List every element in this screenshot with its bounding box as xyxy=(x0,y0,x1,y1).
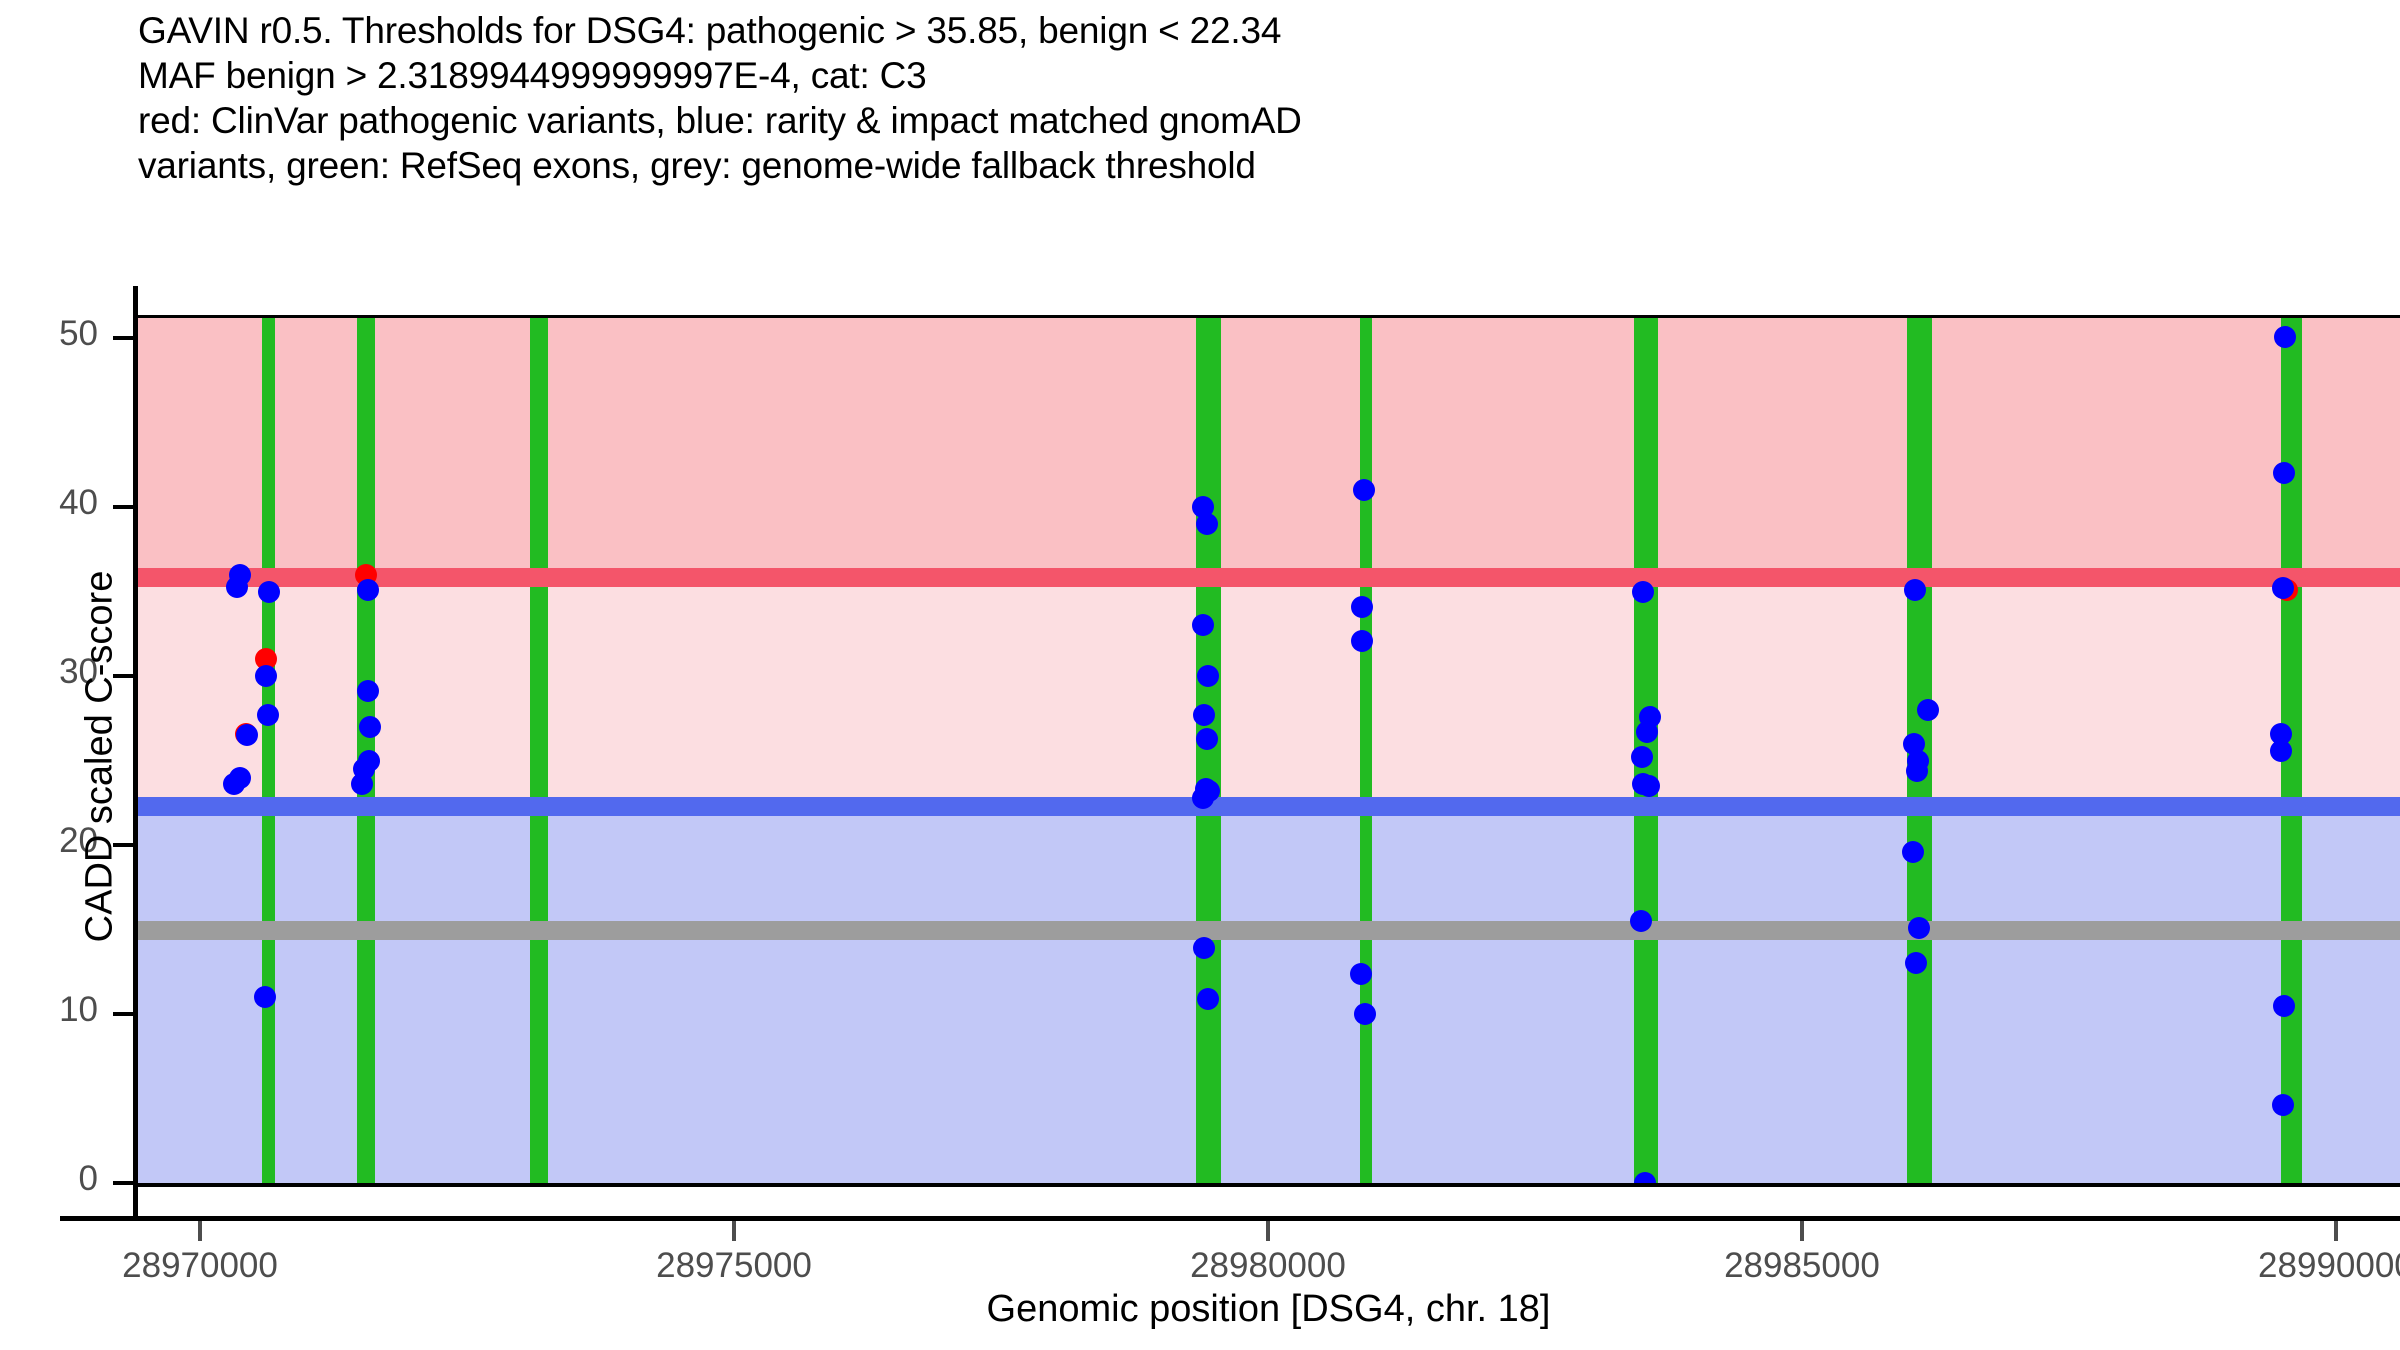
x-tick-mark xyxy=(1266,1221,1270,1241)
refseq-exon-bar xyxy=(1360,318,1372,1183)
gnomad-variant-point xyxy=(1197,988,1219,1010)
refseq-exon-bar xyxy=(1196,318,1221,1183)
gnomad-variant-point xyxy=(1632,581,1654,603)
gnomad-variant-point xyxy=(1351,630,1373,652)
refseq-exon-bar xyxy=(530,318,548,1183)
gnomad-variant-point xyxy=(359,716,381,738)
gnomad-variant-point xyxy=(1351,596,1373,618)
x-tick-label: 28975000 xyxy=(656,1246,812,1286)
gnomad-variant-point xyxy=(1917,699,1939,721)
gnomad-variant-point xyxy=(229,564,251,586)
y-tick-label: 50 xyxy=(59,314,98,354)
gnomad-variant-point xyxy=(1193,704,1215,726)
plot-panel xyxy=(137,318,2400,1183)
gnomad-variant-point xyxy=(1193,937,1215,959)
gnomad-variant-point xyxy=(1906,760,1928,782)
benign-zone xyxy=(137,806,2400,1183)
panel-bottom-border xyxy=(137,1183,2400,1187)
vous-zone xyxy=(137,577,2400,805)
x-tick-mark xyxy=(732,1221,736,1241)
gnomad-variant-point xyxy=(2273,995,2295,1017)
gnomad-variant-point xyxy=(2270,740,2292,762)
gnomad-variant-point xyxy=(1192,787,1214,809)
scatter-plot: 01020304050 2897000028975000289800002898… xyxy=(0,0,2400,1350)
gnomad-variant-point xyxy=(357,579,379,601)
x-axis-line xyxy=(60,1216,2400,1221)
x-tick-label: 28980000 xyxy=(1190,1246,1346,1286)
gnomad-variant-point xyxy=(229,767,251,789)
x-tick-label: 28985000 xyxy=(1724,1246,1880,1286)
x-tick-label: 28990000 xyxy=(2258,1246,2400,1286)
gnomad-variant-point xyxy=(2273,462,2295,484)
gnomad-variant-point xyxy=(258,581,280,603)
gnomad-variant-point xyxy=(2272,577,2294,599)
y-axis-title: CADD scaled C-score xyxy=(79,407,122,1107)
x-tick-label: 28970000 xyxy=(122,1246,278,1286)
gnomad-variant-point xyxy=(358,750,380,772)
gnomad-variant-point xyxy=(1350,963,1372,985)
x-tick-mark xyxy=(198,1221,202,1241)
y-tick-mark xyxy=(113,336,135,340)
gnomad-variant-point xyxy=(1636,721,1658,743)
gnomad-variant-point xyxy=(357,680,379,702)
gnomad-variant-point xyxy=(1196,728,1218,750)
gnomad-variant-point xyxy=(2272,1094,2294,1116)
refseq-exon-bar xyxy=(262,318,275,1183)
x-axis-title: Genomic position [DSG4, chr. 18] xyxy=(137,1288,2400,1331)
gnomad-variant-point xyxy=(1630,910,1652,932)
gnomad-variant-point xyxy=(1631,746,1653,768)
y-axis-line xyxy=(133,286,138,1216)
benign-threshold-line xyxy=(137,797,2400,816)
gnomad-variant-point xyxy=(1904,579,1926,601)
y-tick-mark xyxy=(113,1181,135,1185)
x-tick-mark xyxy=(1800,1221,1804,1241)
x-tick-mark xyxy=(2334,1221,2338,1241)
pathogenic-zone xyxy=(137,318,2400,577)
gnomad-variant-point xyxy=(1902,841,1924,863)
fallback-threshold-line xyxy=(137,921,2400,940)
pathogenic-threshold-line xyxy=(137,568,2400,587)
gnomad-variant-point xyxy=(2274,326,2296,348)
y-tick-label: 0 xyxy=(79,1159,98,1199)
